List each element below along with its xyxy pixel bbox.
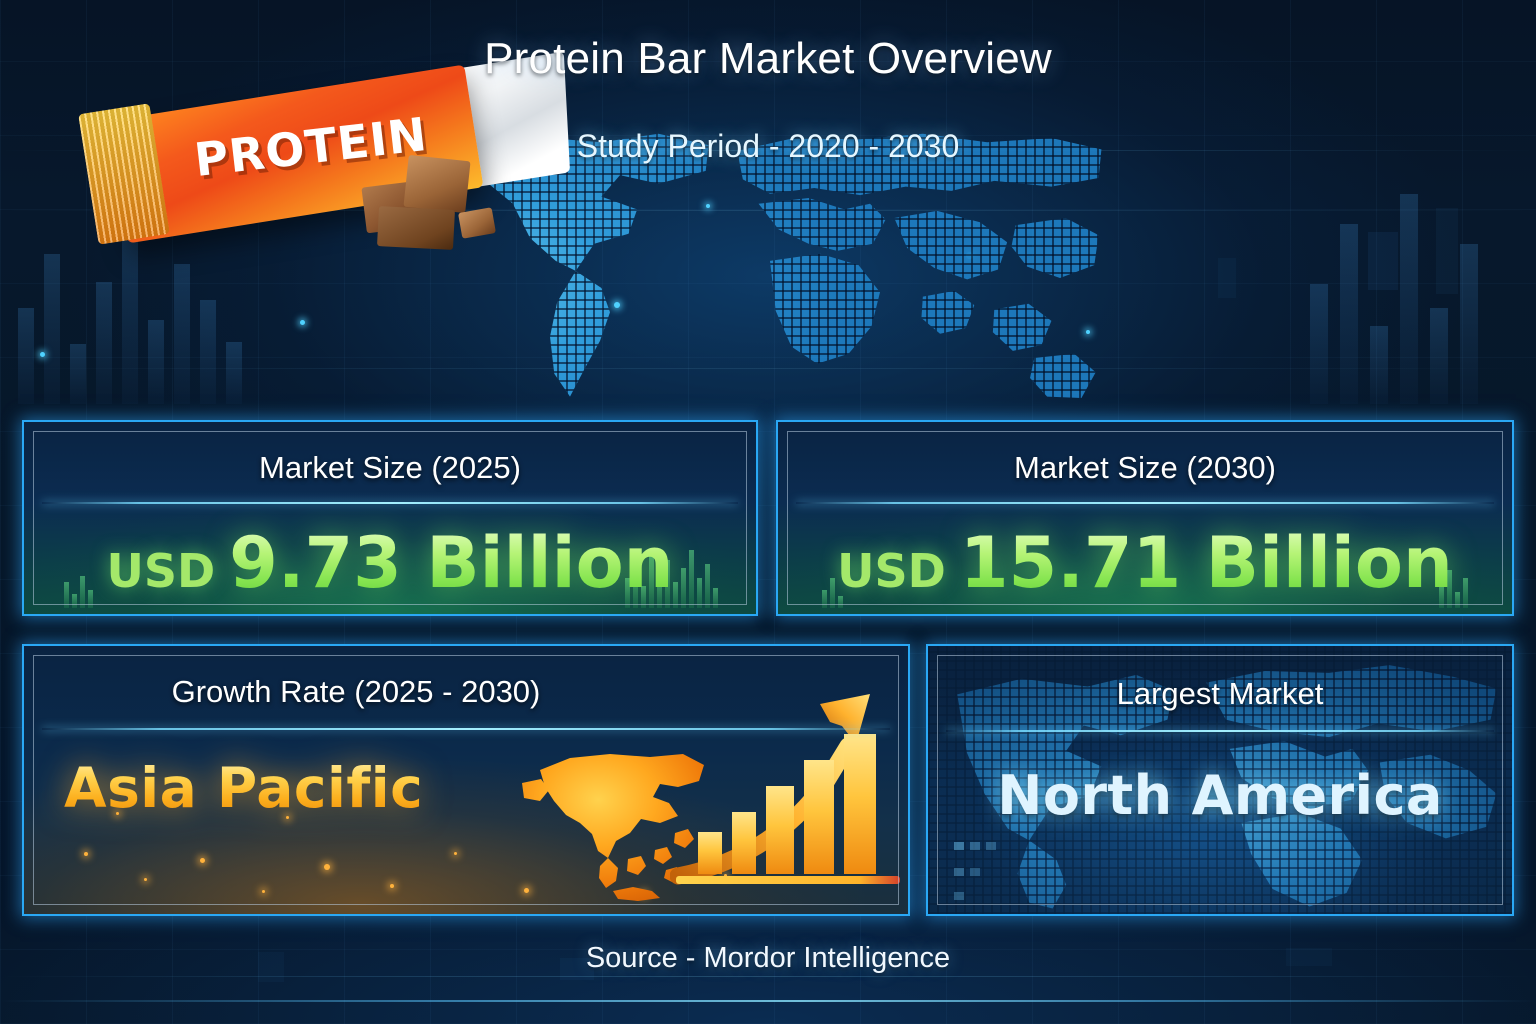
card-value-market-size-2030: USD15.71 Billion — [778, 522, 1512, 604]
amount-2025: 9.73 Billion — [229, 522, 673, 604]
currency-label-2030: USD — [837, 544, 946, 598]
growth-bar-chart — [670, 664, 910, 906]
card-growth-rate[interactable]: Growth Rate (2025 - 2030) Asia Pacific — [22, 644, 910, 916]
card-label-largest-market: Largest Market — [928, 676, 1512, 712]
card-value-market-size-2025: USD9.73 Billion — [24, 522, 756, 604]
chocolate-piece — [377, 206, 455, 250]
amount-2030: 15.71 Billion — [960, 522, 1453, 604]
largest-market-region: North America — [997, 764, 1442, 827]
chocolate-piece — [458, 207, 496, 239]
page-title: Protein Bar Market Overview — [0, 34, 1536, 84]
card-divider — [946, 730, 1494, 732]
card-divider — [42, 502, 738, 504]
infographic-canvas: PROTEIN Protein Bar Market Overview Stud… — [0, 0, 1536, 1024]
card-label-market-size-2030: Market Size (2030) — [778, 450, 1512, 486]
growth-chart-svg — [670, 664, 910, 906]
card-value-largest-market: North America — [928, 764, 1512, 827]
card-market-size-2025[interactable]: Market Size (2025) USD9.73 Billion — [22, 420, 758, 616]
card-market-size-2030[interactable]: Market Size (2030) USD15.71 Billion — [776, 420, 1514, 616]
source-attribution: Source - Mordor Intelligence — [0, 942, 1536, 975]
card-value-growth-rate: Asia Pacific — [64, 756, 423, 820]
card-label-growth-rate: Growth Rate (2025 - 2030) — [24, 674, 688, 710]
card-divider — [42, 728, 890, 730]
card-divider — [796, 502, 1494, 504]
protein-bar-illustration: PROTEIN — [88, 58, 558, 288]
growth-region-label: Asia Pacific — [64, 756, 423, 820]
card-label-market-size-2025: Market Size (2025) — [24, 450, 756, 486]
study-period-subtitle: Study Period - 2020 - 2030 — [0, 128, 1536, 165]
currency-label-2025: USD — [106, 544, 215, 598]
footer-divider — [0, 1000, 1536, 1002]
card-largest-market[interactable]: Largest Market North America — [926, 644, 1514, 916]
